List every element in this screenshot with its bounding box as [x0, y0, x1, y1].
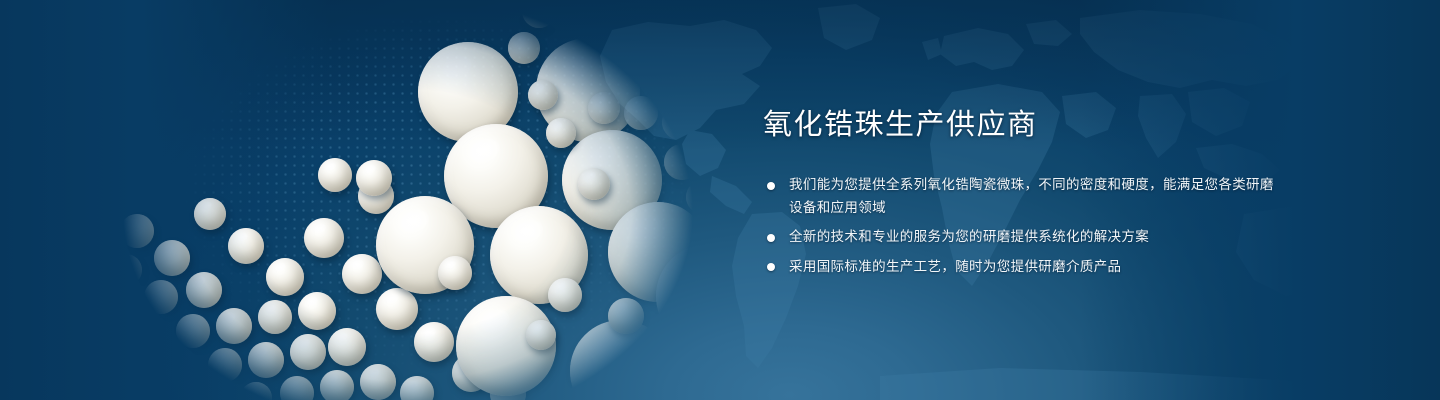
banner-copy: 氧化锆珠生产供应商 我们能为您提供全系列氧化锆陶瓷微珠，不同的密度和硬度，能满足…	[763, 105, 1283, 278]
banner-headline: 氧化锆珠生产供应商	[763, 105, 1283, 145]
bullet-text: 全新的技术和专业的服务为您的研磨提供系统化的解决方案	[789, 229, 1149, 244]
bullet-dot-icon	[767, 234, 775, 242]
background-left-edge	[0, 0, 330, 400]
bullet-item: 我们能为您提供全系列氧化锆陶瓷微珠，不同的密度和硬度，能满足您各类研磨设备和应用…	[763, 174, 1283, 219]
bullet-item: 全新的技术和专业的服务为您的研磨提供系统化的解决方案	[763, 226, 1283, 249]
bullet-dot-icon	[767, 263, 775, 271]
banner-bullet-list: 我们能为您提供全系列氧化锆陶瓷微珠，不同的密度和硬度，能满足您各类研磨设备和应用…	[763, 174, 1283, 278]
bullet-item: 采用国际标准的生产工艺，随时为您提供研磨介质产品	[763, 256, 1283, 279]
bullet-text: 采用国际标准的生产工艺，随时为您提供研磨介质产品	[789, 259, 1121, 274]
bullet-text: 我们能为您提供全系列氧化锆陶瓷微珠，不同的密度和硬度，能满足您各类研磨设备和应用…	[789, 177, 1274, 215]
bullet-dot-icon	[767, 182, 775, 190]
hero-banner: 氧化锆珠生产供应商 我们能为您提供全系列氧化锆陶瓷微珠，不同的密度和硬度，能满足…	[0, 0, 1440, 400]
